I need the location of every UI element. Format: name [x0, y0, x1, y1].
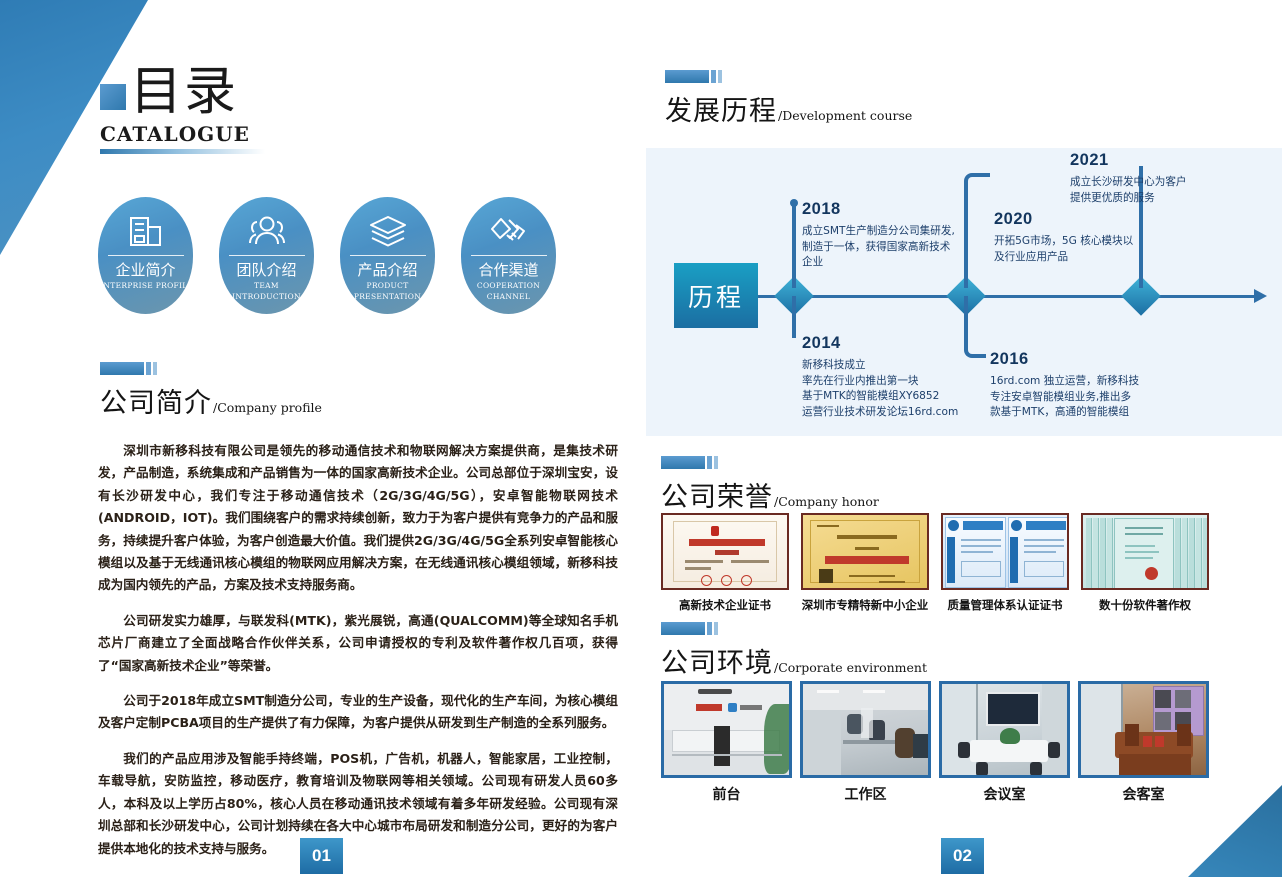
certificate-image-quality-system	[941, 513, 1069, 590]
timeline-item-2016: 2016 16rd.com 独立运营，新移科技 专注安卓智能模组业务,推出多 款…	[990, 350, 1180, 421]
nav-item-enterprise-profile[interactable]: 企业简介 ENTERPRISE PROFILE	[98, 197, 193, 314]
square-bullet-icon	[100, 84, 126, 110]
catalogue-underline	[100, 149, 265, 154]
timeline-desc-line-2: 率先在行业内推出第一块	[802, 374, 1012, 390]
environment-gallery: 前台 工作区	[661, 681, 1221, 804]
profile-paragraph-2: 公司研发实力雄厚，与联发科(MTK)，紫光展锐，高通(QUALCOMM)等全球知…	[98, 610, 618, 677]
honor-caption: 深圳市专精特新中小企业	[801, 597, 929, 613]
heading-bar-tertiary	[714, 456, 718, 469]
catalogue-title: 目录	[100, 66, 265, 118]
timeline-arrow-icon	[1254, 289, 1267, 303]
catalogue-nav-circles: 企业简介 ENTERPRISE PROFILE 团队介绍 TEAM I	[98, 197, 556, 314]
heading-bar-tertiary	[153, 362, 157, 375]
page-number-left: 01	[300, 838, 343, 874]
nav-label-en-line1: TEAM	[254, 282, 279, 291]
environment-photo-meeting-room	[939, 681, 1070, 778]
environment-caption: 会议室	[939, 784, 1070, 804]
environment-item[interactable]: 会客室	[1078, 681, 1209, 804]
timeline-desc-line-2: 及行业应用产品	[994, 250, 1174, 266]
heading-bars-decoration	[665, 70, 912, 83]
heading-text-row: 公司荣誉 /Company honor	[661, 475, 879, 514]
nav-label-en-line2: CHANNEL	[487, 293, 530, 302]
company-honor-heading: 公司荣誉 /Company honor	[661, 456, 879, 514]
section-title-en: /Corporate environment	[774, 660, 927, 675]
catalogue-title-cn: 目录	[130, 66, 238, 118]
timeline-year: 2016	[990, 350, 1180, 369]
timeline-elbow-down	[964, 338, 986, 358]
timeline-desc-line-3: 款基于MTK，高通的智能模组	[990, 405, 1180, 421]
certificate-image-high-tech	[661, 513, 789, 590]
honor-gallery: 高新技术企业证书 深圳市专精特新中小企业	[661, 513, 1216, 613]
timeline-item-2021: 2021 成立长沙研发中心为客户 提供更优质的服务	[1070, 151, 1250, 206]
layers-icon	[366, 211, 410, 251]
environment-caption: 工作区	[800, 784, 931, 804]
nav-label-en-line1: PRODUCT	[366, 282, 408, 291]
company-profile-text: 深圳市新移科技有限公司是领先的移动通信技术和物联网解决方案提供商，是集技术研发，…	[98, 440, 618, 873]
nav-item-team-introduction[interactable]: 团队介绍 TEAM INTRODUCTION	[219, 197, 314, 314]
timeline-desc-line-1: 新移科技成立	[802, 358, 1012, 374]
heading-bar-primary	[661, 456, 705, 469]
timeline-panel: 历程 2018 成立SMT生产制造分公司集研发, 制造于一体，获得国家高新技术 …	[646, 148, 1282, 436]
timeline-stem-up	[792, 202, 796, 288]
nav-item-cooperation-channel[interactable]: 合作渠道 COOPERATION CHANNEL	[461, 197, 556, 314]
timeline-badge: 历程	[674, 263, 758, 328]
section-title-en: /Development course	[778, 108, 912, 123]
honor-caption: 数十份软件著作权	[1081, 597, 1209, 613]
nav-label-en: ENTERPRISE PROFILE	[98, 282, 193, 291]
nav-label-en-line1: COOPERATION	[477, 282, 540, 291]
timeline-stem-dot	[790, 199, 798, 207]
nav-label-en-line2: INTRODUCTION	[232, 293, 301, 302]
environment-item[interactable]: 工作区	[800, 681, 931, 804]
heading-bar-secondary	[146, 362, 151, 375]
profile-paragraph-1: 深圳市新移科技有限公司是领先的移动通信技术和物联网解决方案提供商，是集技术研发，…	[98, 440, 618, 597]
nav-label-en-line2: PRESENTATION	[354, 293, 421, 302]
timeline-year: 2021	[1070, 151, 1250, 170]
heading-text-row: 公司简介 /Company profile	[100, 381, 322, 420]
honor-item[interactable]: 高新技术企业证书	[661, 513, 789, 613]
environment-caption: 前台	[661, 784, 792, 804]
environment-photo-workspace	[800, 681, 931, 778]
heading-bar-primary	[665, 70, 709, 83]
timeline-desc-line-2: 提供更优质的服务	[1070, 191, 1250, 207]
environment-item[interactable]: 会议室	[939, 681, 1070, 804]
heading-bars-decoration	[100, 362, 322, 375]
timeline-stem-down	[792, 296, 796, 338]
honor-item[interactable]: 质量管理体系认证证书	[941, 513, 1069, 613]
page-number-right: 02	[941, 838, 984, 874]
right-page: 发展历程 /Development course 历程 2018 成立SMT生产…	[641, 0, 1282, 877]
heading-bar-secondary	[711, 70, 716, 83]
timeline-desc-line-3: 基于MTK的智能模组XY6852	[802, 389, 1012, 405]
development-course-heading: 发展历程 /Development course	[665, 70, 912, 128]
environment-caption: 会客室	[1078, 784, 1209, 804]
certificate-image-software-copyrights	[1081, 513, 1209, 590]
environment-item[interactable]: 前台	[661, 681, 792, 804]
certificate-image-specialized-sme	[801, 513, 929, 590]
heading-bar-primary	[661, 622, 705, 635]
timeline-desc-line-1: 成立长沙研发中心为客户	[1070, 175, 1250, 191]
building-icon	[126, 211, 166, 251]
nav-label-cn: 产品介绍	[350, 255, 426, 280]
nav-label-cn: 合作渠道	[471, 255, 547, 280]
company-profile-heading: 公司简介 /Company profile	[100, 362, 322, 420]
section-title-cn: 公司简介	[100, 381, 212, 420]
nav-label-cn: 企业简介	[108, 255, 184, 280]
section-title-cn: 公司荣誉	[661, 475, 773, 514]
profile-paragraph-3: 公司于2018年成立SMT制造分公司，专业的生产设备，现代化的生产车间，为核心模…	[98, 690, 618, 735]
heading-bar-tertiary	[718, 70, 722, 83]
heading-bar-primary	[100, 362, 144, 375]
timeline-elbow-up	[964, 173, 990, 288]
nav-label-cn: 团队介绍	[229, 255, 305, 280]
section-title-cn: 发展历程	[665, 89, 777, 128]
heading-bar-secondary	[707, 622, 712, 635]
timeline-stem-down	[964, 296, 968, 338]
nav-item-product-presentation[interactable]: 产品介绍 PRODUCT PRESENTATION	[340, 197, 435, 314]
heading-text-row: 公司环境 /Corporate environment	[661, 641, 927, 680]
left-page: 目录 CATALOGUE 企业简介 ENTERPRISE PROFILE	[0, 0, 641, 877]
honor-caption: 高新技术企业证书	[661, 597, 789, 613]
profile-paragraph-4: 我们的产品应用涉及智能手持终端，POS机，广告机，机器人，智能家居，工业控制，车…	[98, 748, 618, 860]
heading-bars-decoration	[661, 622, 927, 635]
section-title-en: /Company honor	[774, 494, 879, 509]
honor-item[interactable]: 数十份软件著作权	[1081, 513, 1209, 613]
brochure-page: 目录 CATALOGUE 企业简介 ENTERPRISE PROFILE	[0, 0, 1282, 877]
heading-bars-decoration	[661, 456, 879, 469]
timeline-year: 2020	[994, 210, 1174, 229]
environment-photo-guest-room	[1078, 681, 1209, 778]
honor-item[interactable]: 深圳市专精特新中小企业	[801, 513, 929, 613]
section-title-cn: 公司环境	[661, 641, 773, 680]
section-title-en: /Company profile	[213, 400, 322, 415]
corporate-environment-heading: 公司环境 /Corporate environment	[661, 622, 927, 680]
honor-caption: 质量管理体系认证证书	[941, 597, 1069, 613]
catalogue-block: 目录 CATALOGUE	[100, 66, 265, 154]
heading-bar-tertiary	[714, 622, 718, 635]
timeline-desc-line-2: 专注安卓智能模组业务,推出多	[990, 390, 1180, 406]
timeline-item-2020: 2020 开拓5G市场，5G 核心模块以 及行业应用产品	[994, 210, 1174, 265]
heading-bar-secondary	[707, 456, 712, 469]
timeline-desc-line-1: 开拓5G市场，5G 核心模块以	[994, 234, 1174, 250]
heading-text-row: 发展历程 /Development course	[665, 89, 912, 128]
timeline-desc-line-1: 16rd.com 独立运营，新移科技	[990, 374, 1180, 390]
catalogue-title-en: CATALOGUE	[100, 122, 265, 146]
environment-photo-reception	[661, 681, 792, 778]
timeline-desc-line-4: 运营行业技术研发论坛16rd.com	[802, 405, 1012, 421]
handshake-icon	[488, 211, 530, 251]
team-people-icon	[245, 211, 289, 251]
